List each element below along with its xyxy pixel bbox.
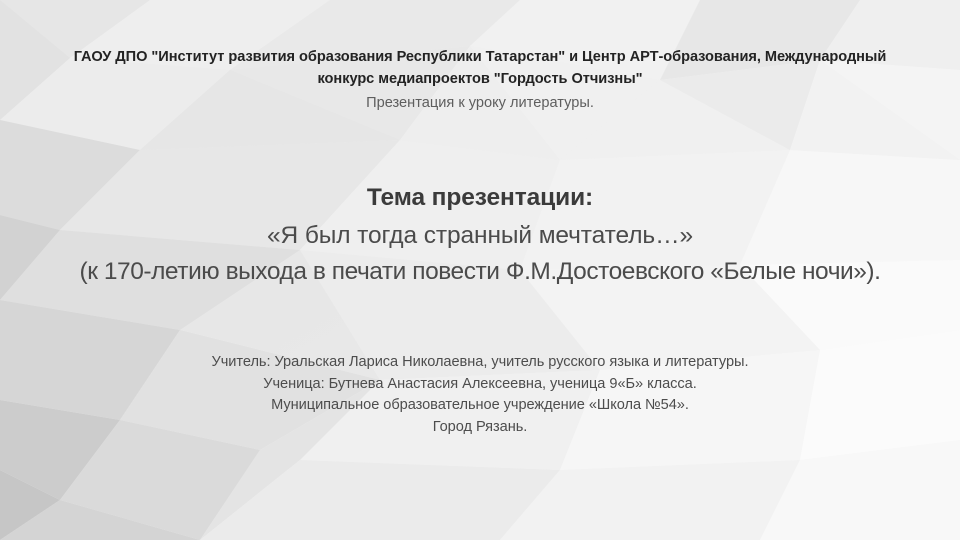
header-block: ГАОУ ДПО "Институт развития образования …	[0, 46, 960, 115]
header-line-2: конкурс медиапроектов "Гордость Отчизны"	[0, 68, 960, 90]
credit-line-institution: Муниципальное образовательное учреждение…	[0, 395, 960, 417]
credit-line-student: Ученица: Бутнева Анастасия Алексеевна, у…	[0, 374, 960, 396]
slide-content: ГАОУ ДПО "Институт развития образования …	[0, 0, 960, 540]
presentation-slide: ГАОУ ДПО "Институт развития образования …	[0, 0, 960, 540]
credits-block: Учитель: Уральская Лариса Николаевна, уч…	[0, 352, 960, 438]
header-line-1: ГАОУ ДПО "Институт развития образования …	[0, 46, 960, 68]
title-quotation: «Я был тогда странный мечтатель…»	[0, 218, 960, 254]
credit-line-city: Город Рязань.	[0, 417, 960, 439]
title-block: Тема презентации: «Я был тогда странный …	[0, 180, 960, 290]
header-subtitle: Презентация к уроку литературы.	[0, 91, 960, 115]
credit-line-teacher: Учитель: Уральская Лариса Николаевна, уч…	[0, 352, 960, 374]
page-title: Тема презентации:	[0, 180, 960, 216]
title-subtitle: (к 170-летию выхода в печати повести Ф.М…	[0, 254, 960, 290]
